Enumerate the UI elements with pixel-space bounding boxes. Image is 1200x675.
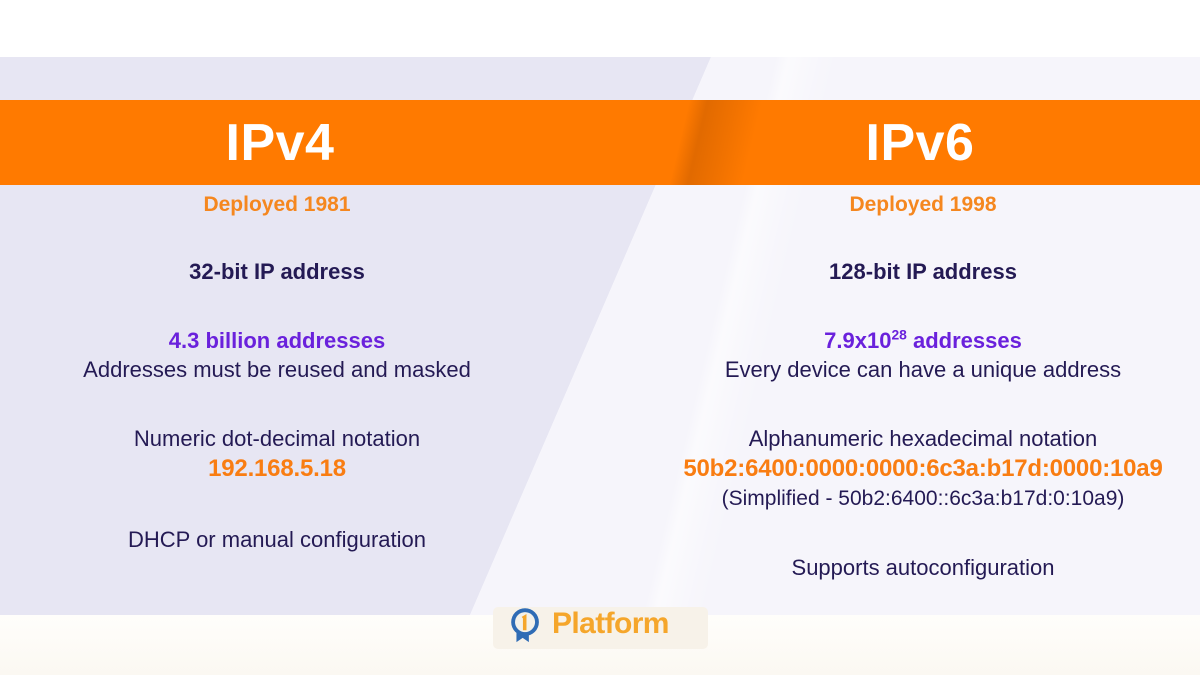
spacer (646, 513, 1200, 553)
spacer (646, 286, 1200, 326)
ipv4-capacity: 4.3 billion addresses (0, 326, 554, 355)
spacer (646, 384, 1200, 424)
ipv6-capacity-exponent: 28 (891, 327, 906, 343)
ipv6-notation-label: Alphanumeric hexadecimal notation (646, 424, 1200, 453)
ipv4-configuration: DHCP or manual configuration (0, 525, 554, 554)
spacer (0, 485, 554, 525)
ipv4-example-address: 192.168.5.18 (0, 453, 554, 485)
ipv6-capacity-note: Every device can have a unique address (646, 355, 1200, 384)
ipv6-column: Deployed 1998 128-bit IP address 7.9x102… (646, 185, 1200, 582)
ipv4-title: IPv4 (0, 117, 560, 169)
ipv6-deployed-year: Deployed 1998 (646, 192, 1200, 217)
ipv4-ipv6-comparison-infographic: IPv4 IPv6 Deployed 1981 32-bit IP addres… (0, 0, 1200, 675)
platform-logo: Platform (505, 602, 669, 646)
ipv6-bit-length: 128-bit IP address (646, 257, 1200, 286)
ipv4-notation-label: Numeric dot-decimal notation (0, 424, 554, 453)
ipv6-capacity-suffix: addresses (907, 328, 1022, 353)
ipv6-capacity-base: 7.9x10 (824, 328, 891, 353)
spacer (0, 384, 554, 424)
spacer (0, 286, 554, 326)
platform-logo-text: Platform (552, 609, 669, 639)
ipv4-deployed-year: Deployed 1981 (0, 192, 554, 217)
ipv6-example-simplified: (Simplified - 50b2:6400::6c3a:b17d:0:10a… (646, 485, 1200, 513)
spacer (0, 217, 554, 257)
ipv6-configuration: Supports autoconfiguration (646, 553, 1200, 582)
ipv6-title: IPv6 (640, 117, 1200, 169)
title-band: IPv4 IPv6 (0, 100, 1200, 185)
ipv4-capacity-note: Addresses must be reused and masked (0, 355, 554, 384)
spacer (646, 217, 1200, 257)
ipv4-column: Deployed 1981 32-bit IP address 4.3 bill… (0, 185, 554, 554)
badge-ribbon-icon (505, 603, 547, 645)
ipv6-example-address: 50b2:6400:0000:0000:6c3a:b17d:0000:10a9 (646, 453, 1200, 485)
ipv4-bit-length: 32-bit IP address (0, 257, 554, 286)
ipv6-capacity: 7.9x1028 addresses (646, 326, 1200, 355)
